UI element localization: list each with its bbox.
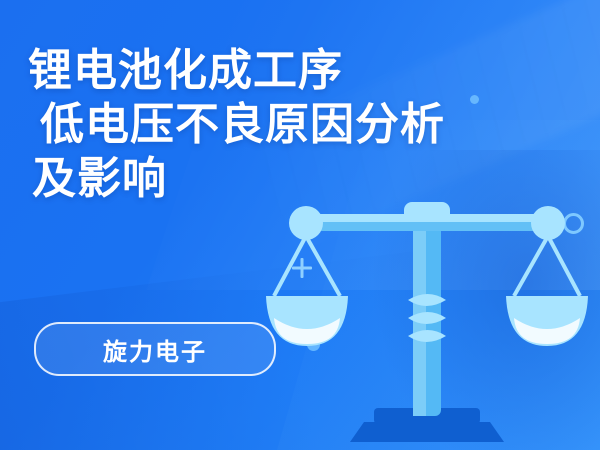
dot-icon <box>470 95 479 104</box>
title-line-2: 低电压不良原因分析 <box>28 98 448 152</box>
title-line-1: 锂电池化成工序 <box>28 44 448 98</box>
brand-label: 旋力电子 <box>103 332 207 367</box>
brand-badge: 旋力电子 <box>34 322 276 376</box>
promo-banner: 锂电池化成工序 低电压不良原因分析 及影响 旋力电子 <box>0 0 600 450</box>
balance-scales-icon <box>262 150 592 450</box>
